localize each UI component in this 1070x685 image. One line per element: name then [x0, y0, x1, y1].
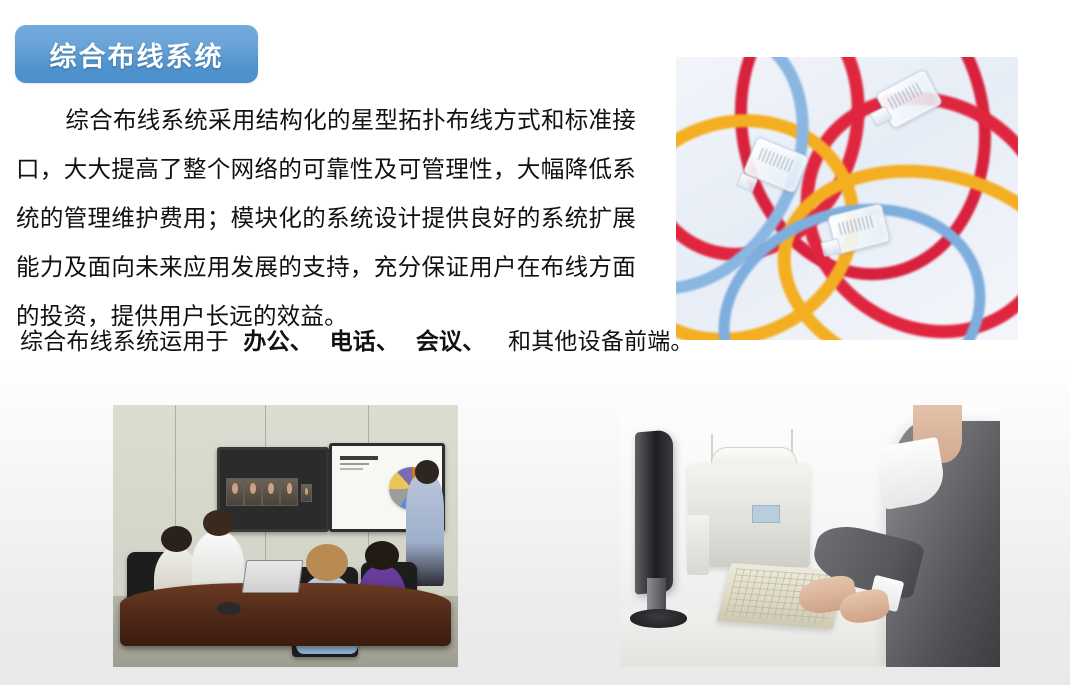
participant-tile-2	[244, 478, 262, 506]
usage-keyword-telephone: 电话、	[330, 328, 400, 354]
participant-tile-1	[226, 478, 244, 506]
conference-microphone	[217, 602, 241, 615]
usage-lead-text: 综合布线系统运用于	[20, 328, 229, 354]
slide-subtitle-bar-2	[340, 468, 362, 470]
paragraph-text: 综合布线系统采用结构化的星型拓扑布线方式和标准接口，大大提高了整个网络的可靠性及…	[16, 107, 636, 329]
participant-tile-3	[262, 478, 280, 506]
office-scene	[620, 405, 1000, 667]
presenter-head	[415, 460, 439, 484]
fax-display-screen	[752, 505, 781, 524]
section-title-badge: 综合布线系统	[15, 25, 258, 83]
office-workstation-photo	[620, 405, 1000, 667]
slide-root: 综合布线系统 综合布线系统采用结构化的星型拓扑布线方式和标准接口，大大提高了整个…	[0, 0, 1070, 685]
participant-tile-4	[280, 478, 298, 506]
telephone-handset	[687, 515, 710, 575]
usage-keyword-office: 办公、	[243, 328, 313, 354]
usage-keyword-meeting: 会议、	[416, 328, 486, 354]
slide-subtitle-bar	[340, 463, 369, 465]
attendee-1-head	[161, 526, 192, 552]
monitor-stand-base	[630, 609, 687, 627]
usage-summary-line: 综合布线系统运用于 办公、 电话、 会议、 和其他设备前端。	[20, 322, 700, 356]
attendee-2-head	[203, 510, 234, 536]
section-title-text: 综合布线系统	[50, 35, 224, 74]
attendee-3-head	[306, 544, 347, 581]
network-cables-rj45-photo	[676, 57, 1018, 340]
participant-tile-self	[301, 484, 313, 502]
conference-scene	[113, 405, 458, 667]
laptop-on-table	[242, 560, 304, 593]
computer-monitor	[635, 430, 673, 596]
usage-tail-text: 和其他设备前端。	[508, 328, 694, 354]
video-conference-room-photo	[113, 405, 458, 667]
cables-scene	[676, 57, 1018, 340]
body-paragraph: 综合布线系统采用结构化的星型拓扑布线方式和标准接口，大大提高了整个网络的可靠性及…	[16, 96, 636, 341]
slide-title-bar	[340, 456, 378, 460]
